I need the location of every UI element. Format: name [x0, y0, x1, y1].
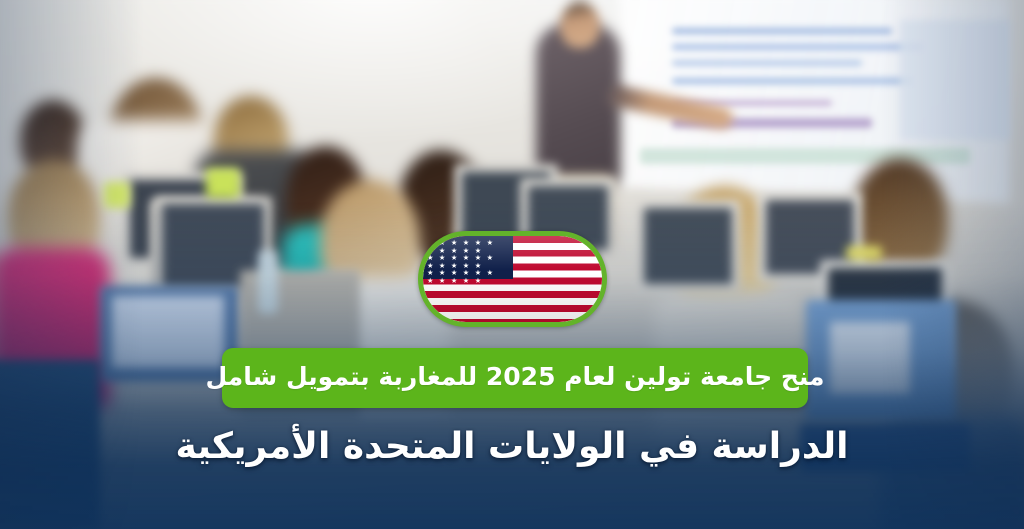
usa-flag-icon: ★ ★ ★ ★ ★ ★ ★ ★ ★ ★ ★ ★ ★ ★ ★ ★ ★ ★ ★ ★ …	[418, 231, 607, 327]
flag-canton: ★ ★ ★ ★ ★ ★ ★ ★ ★ ★ ★ ★ ★ ★ ★ ★ ★ ★ ★ ★ …	[423, 236, 513, 279]
monitor-screen	[644, 208, 732, 284]
teacher-head	[560, 2, 600, 48]
flag-stars: ★ ★ ★ ★ ★ ★ ★ ★ ★ ★ ★ ★ ★ ★ ★ ★ ★ ★ ★ ★ …	[423, 236, 513, 279]
teacher-figure	[536, 24, 620, 184]
green-headline-text: منح جامعة تولين لعام 2025 للمغاربة بتموي…	[205, 363, 824, 394]
projection-text-line	[672, 78, 912, 84]
sticky-note	[846, 246, 882, 260]
projection-text-line	[672, 44, 922, 50]
projection-text-line	[672, 28, 892, 34]
water-bottle	[258, 250, 278, 314]
laptop-window	[112, 296, 224, 368]
promo-banner-image: ★ ★ ★ ★ ★ ★ ★ ★ ★ ★ ★ ★ ★ ★ ★ ★ ★ ★ ★ ★ …	[0, 0, 1024, 529]
projection-taskbar	[640, 148, 970, 164]
flag-inner: ★ ★ ★ ★ ★ ★ ★ ★ ★ ★ ★ ★ ★ ★ ★ ★ ★ ★ ★ ★ …	[423, 236, 602, 322]
bottom-headline-text: الدراسة في الولايات المتحدة الأمريكية	[0, 424, 1024, 469]
sticky-note	[104, 182, 130, 208]
projection-text-line	[672, 60, 862, 66]
sticky-note	[206, 168, 240, 198]
green-headline-banner: منح جامعة تولين لعام 2025 للمغاربة بتموي…	[222, 348, 808, 408]
laptop-window	[830, 322, 910, 394]
projection-panel	[900, 20, 1010, 140]
